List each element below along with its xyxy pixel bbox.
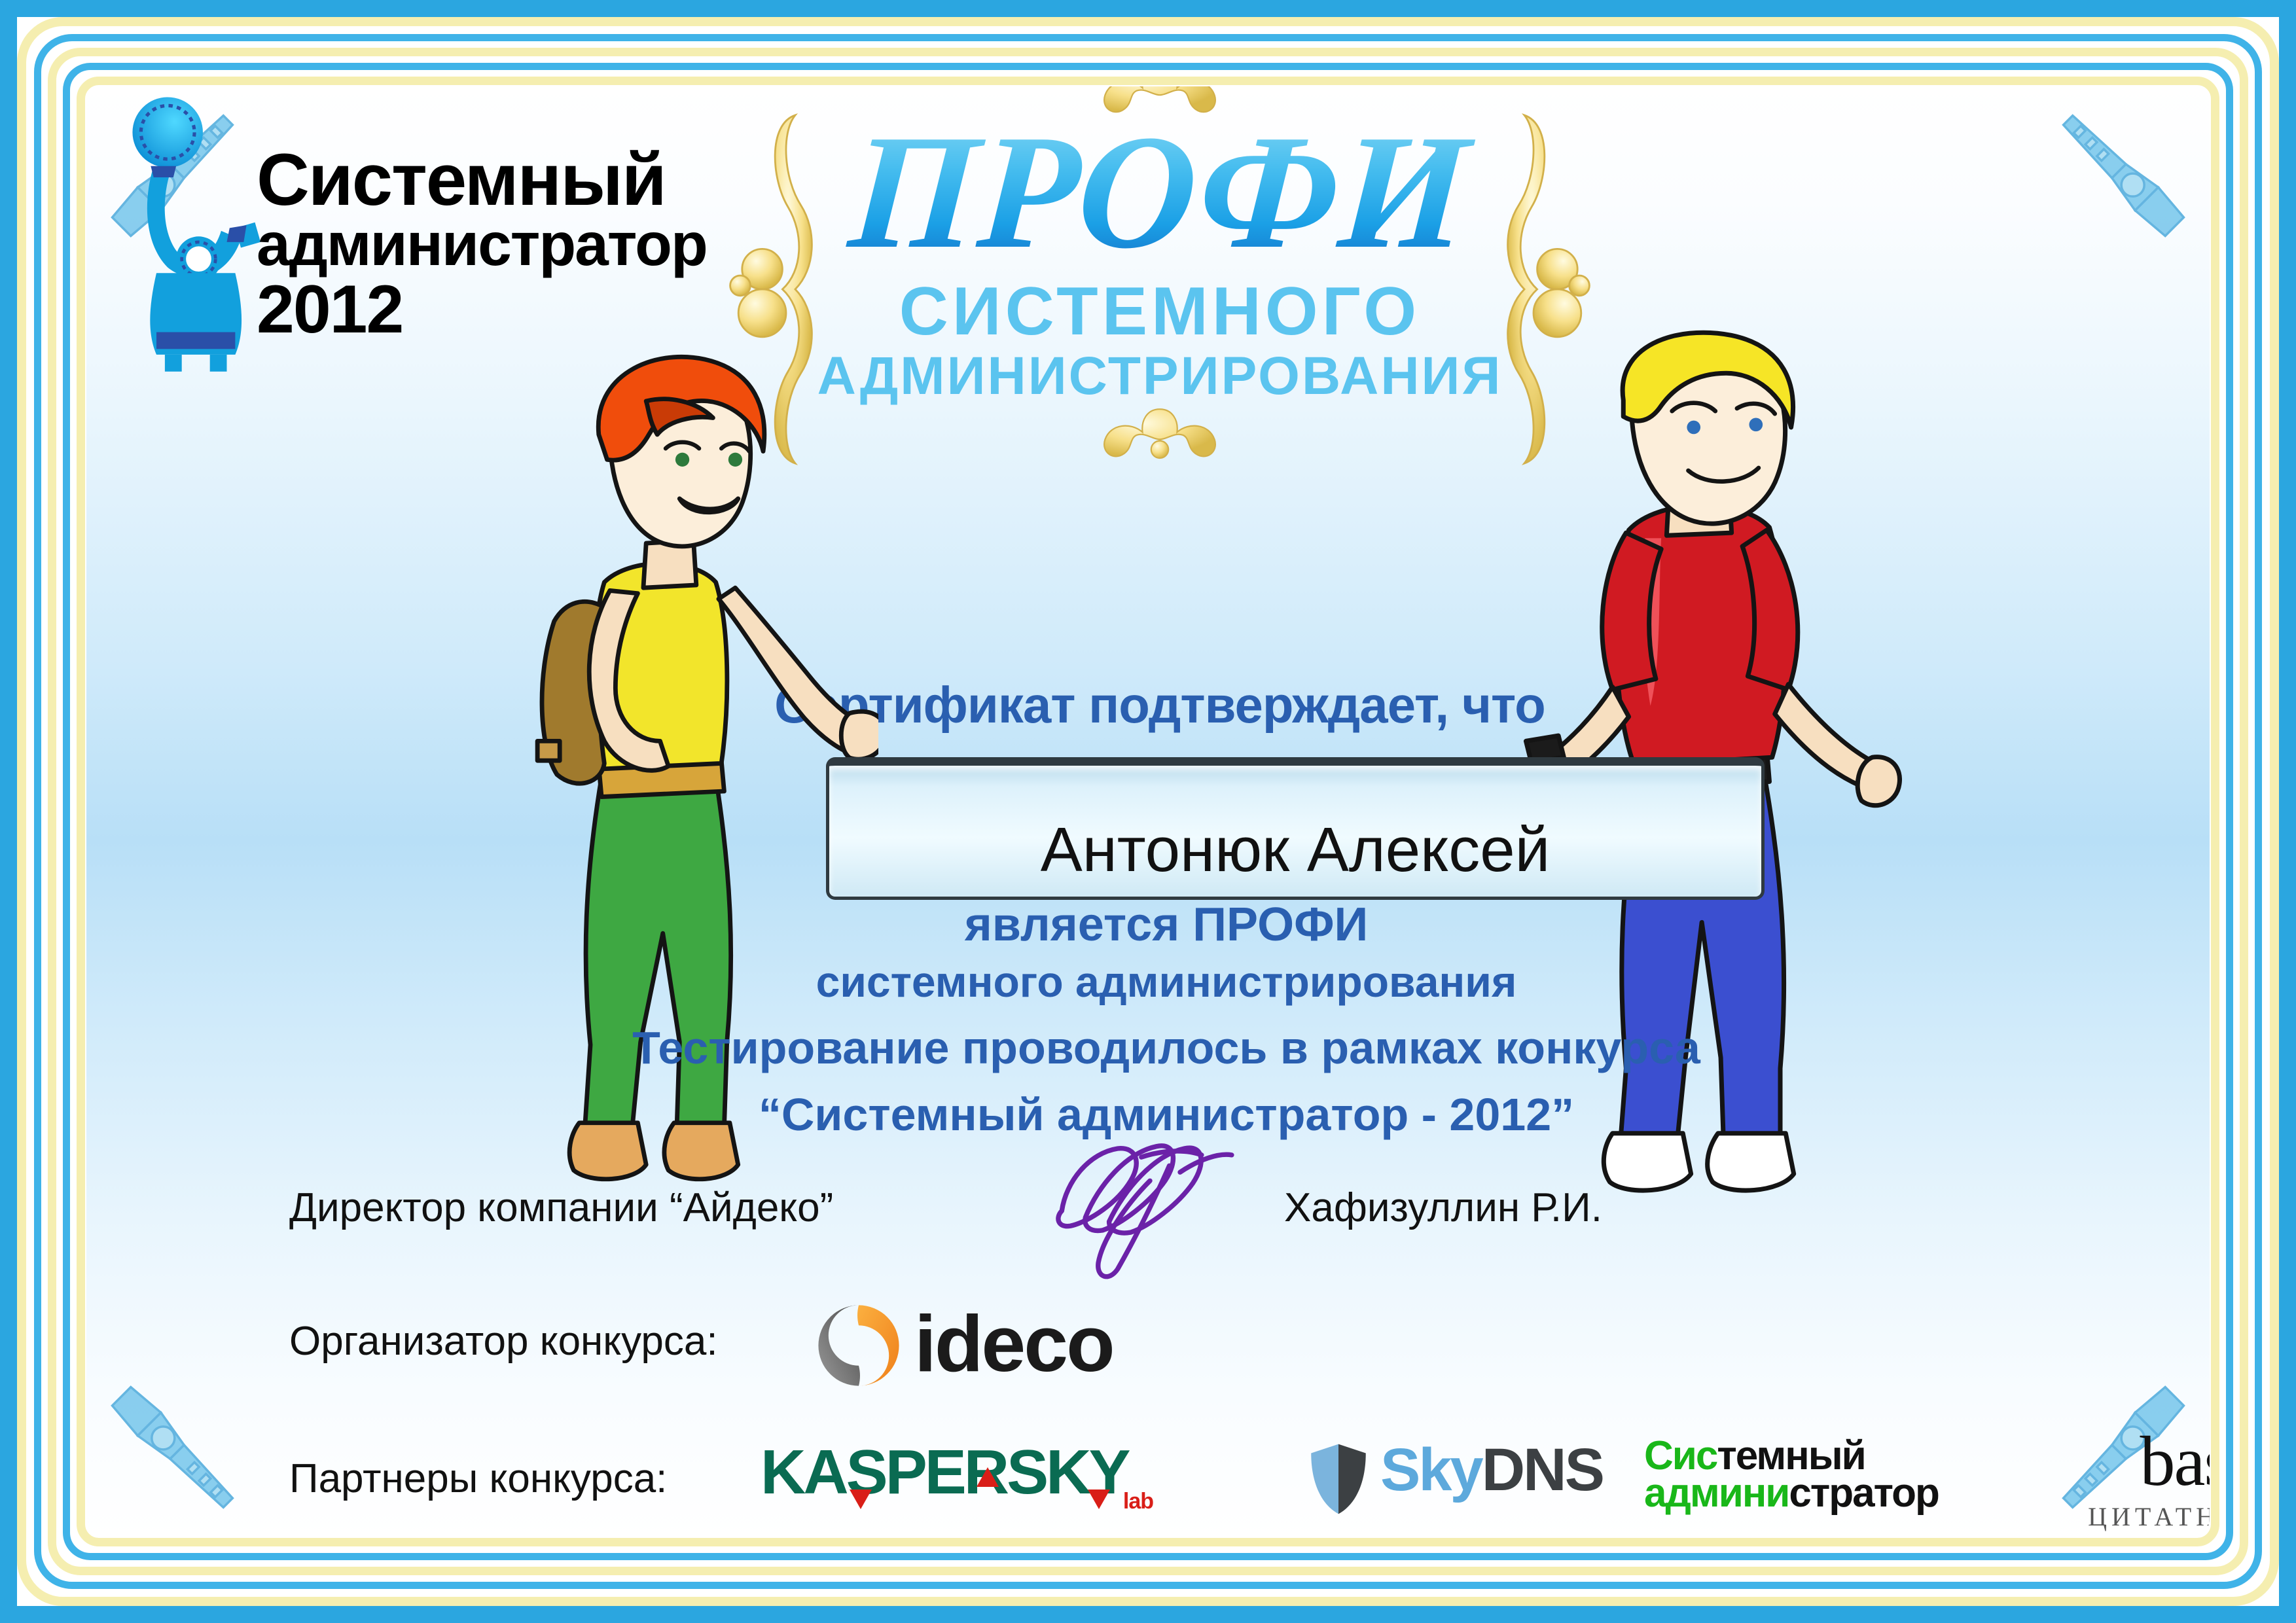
- skydns-word-sky: Sky: [1380, 1436, 1482, 1503]
- skydns-word-dns: DNS: [1482, 1436, 1603, 1503]
- kaspersky-lab-suffix: lab: [1123, 1489, 1153, 1514]
- ideco-logo: ideco: [813, 1294, 1179, 1399]
- headline-sub-line1: СИСТЕМНОГО: [754, 277, 1566, 346]
- pliers-tool-icon: [93, 1368, 257, 1531]
- certificate-page: Системный администратор 2012: [0, 0, 2296, 1623]
- kaspersky-triangle-icon: [1088, 1489, 1110, 1509]
- sysadmin-mascot-icon: [99, 93, 270, 374]
- certificate-body-text: является ПРОФИ системного администрирова…: [545, 901, 1788, 1148]
- recipient-name: Антонюк Алексей: [829, 814, 1761, 886]
- sysadmin-magazine-line2: администратор: [1644, 1474, 2011, 1512]
- ideco-wordmark: ideco: [914, 1304, 1113, 1383]
- partners-label: Партнеры конкурса:: [289, 1455, 667, 1502]
- partners-row: Партнеры конкурса: KASPERSKY lab SkyDNS …: [289, 1421, 2210, 1537]
- organizer-label: Организатор конкурса:: [289, 1318, 718, 1364]
- sysadmin-magazine-l2-green: админи: [1644, 1471, 1789, 1516]
- sysadmin-logo-year: 2012: [257, 275, 708, 344]
- director-title-label: Директор компании “Айдеко”: [289, 1185, 833, 1231]
- organizer-row: Организатор конкурса:: [289, 1291, 1860, 1408]
- gold-flourish-icon: [1052, 390, 1268, 469]
- sysadmin-logo-line1: Системный: [257, 145, 708, 215]
- sysadmin-magazine-logo: Системный администратор: [1644, 1437, 2011, 1535]
- body-line-2: системного администрирования: [545, 948, 1788, 1015]
- shield-icon: [1307, 1441, 1370, 1517]
- bashim-wordmark: bash.im: [2083, 1427, 2210, 1497]
- recipient-name-plate: Антонюк Алексей: [826, 757, 1765, 900]
- kaspersky-triangle-icon: [850, 1489, 872, 1509]
- headline-profi: ПРОФИ: [749, 114, 1571, 271]
- bashim-logo: bash.im ЦИТАТНИК РУНЕТА: [2083, 1427, 2210, 1537]
- skydns-logo: SkyDNS: [1307, 1436, 1595, 1527]
- kaspersky-logo: KASPERSKY lab: [761, 1441, 1153, 1520]
- bashim-tagline: ЦИТАТНИК РУНЕТА: [2083, 1501, 2210, 1532]
- ideco-ring-icon: [813, 1300, 905, 1391]
- sysadmin-logo-line2: администратор: [257, 215, 708, 274]
- body-line-1: является ПРОФИ: [545, 901, 1788, 948]
- sysadmin-magazine-line1: Системный: [1644, 1437, 2011, 1474]
- body-line-3: Тестирование проводилось в рамках конкур…: [545, 1015, 1788, 1082]
- signature-row: Директор компании “Айдеко” Хафизуллин Р.…: [289, 1160, 1860, 1277]
- handwritten-signature-icon: [1042, 1133, 1258, 1284]
- skydns-wordmark: SkyDNS: [1380, 1440, 1603, 1500]
- director-name: Хафизуллин Р.И.: [1284, 1185, 1602, 1231]
- pliers-tool-icon: [2039, 92, 2203, 255]
- sysadmin-magazine-l2-black: стратор: [1789, 1471, 1939, 1516]
- sysadmin-logo-text: Системный администратор 2012: [257, 145, 708, 344]
- certificate-canvas: Системный администратор 2012: [86, 86, 2210, 1537]
- recipient-name-plate-wrapper: Антонюк Алексей: [630, 544, 1954, 898]
- kaspersky-triangle-icon: [977, 1467, 999, 1487]
